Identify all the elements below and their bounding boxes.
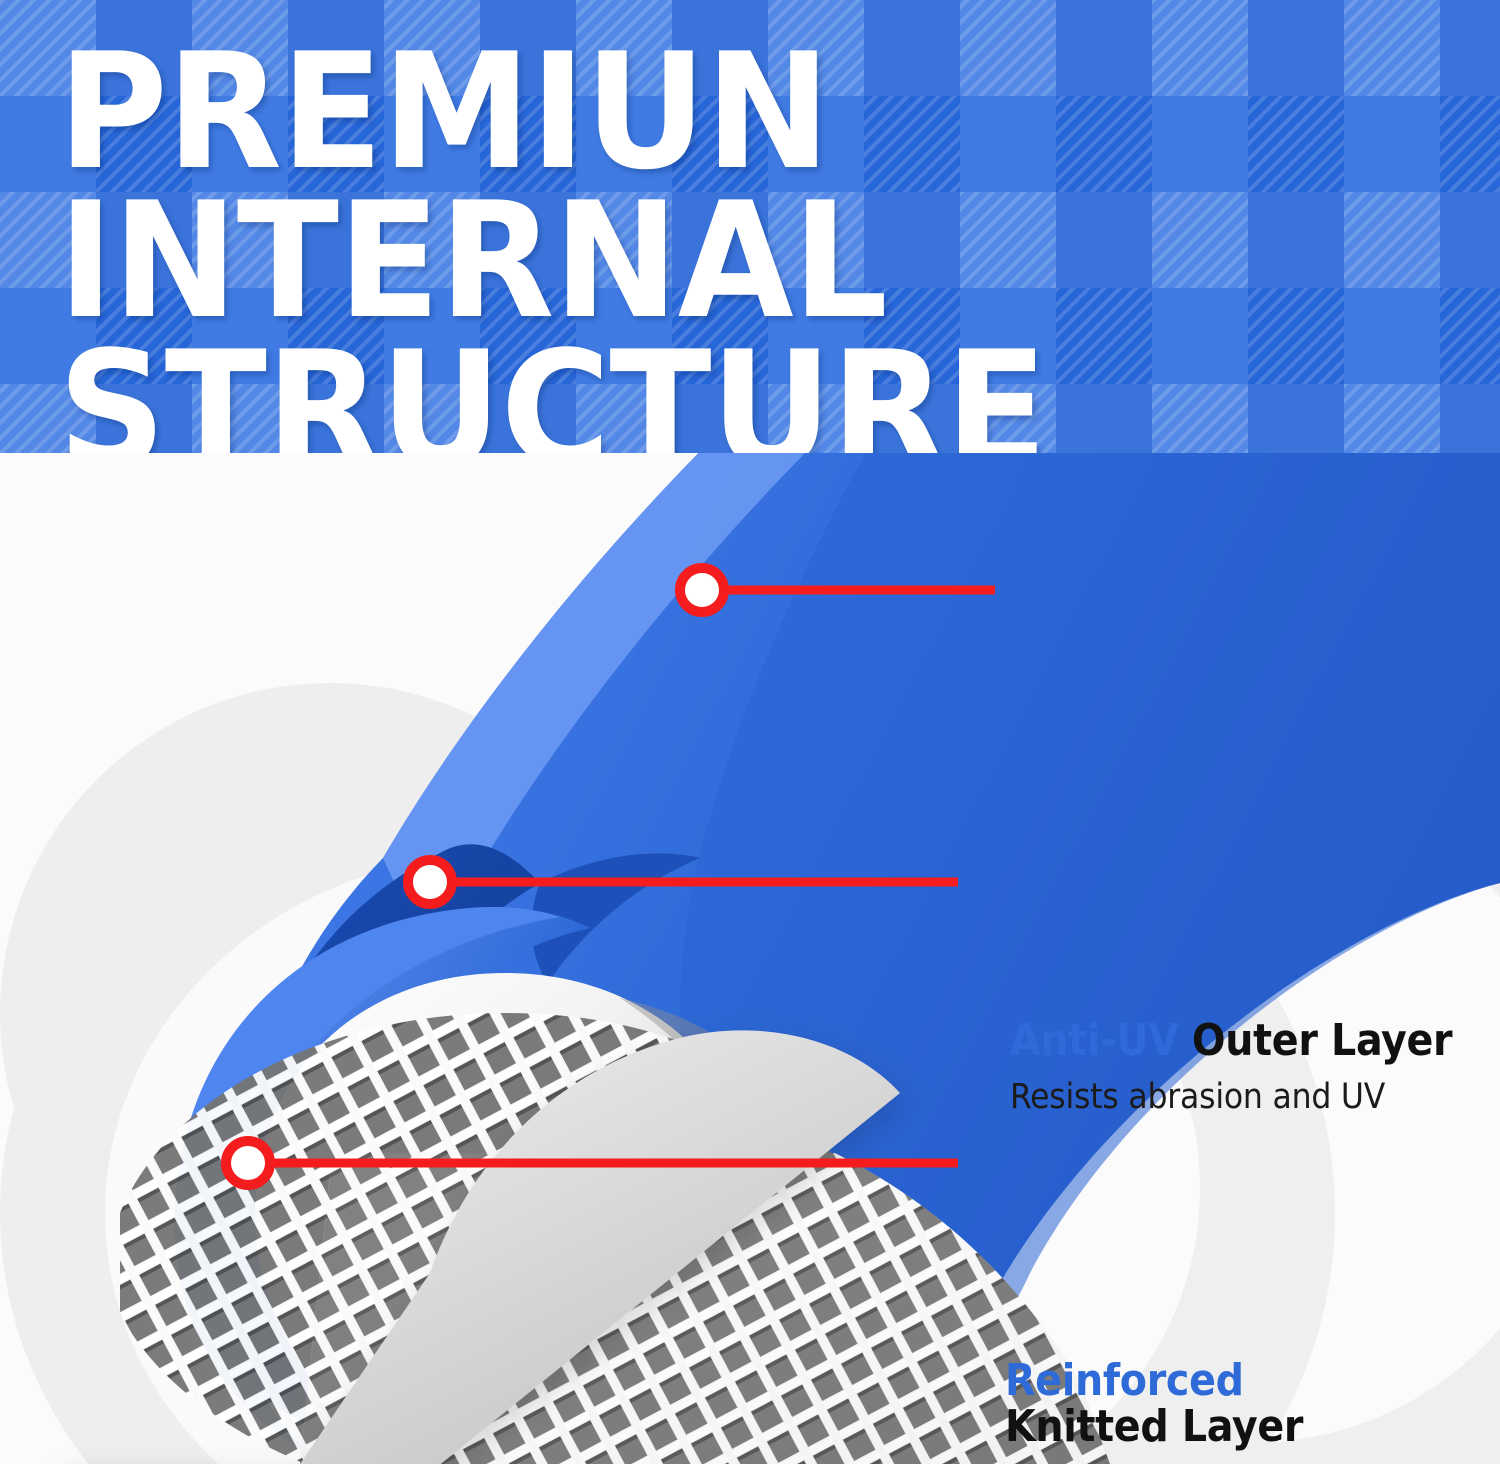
callout-marker-1 — [680, 568, 724, 612]
callout-1-title-highlight: Anti-UV — [1010, 1015, 1192, 1066]
illustration-stage: Anti-UV Outer Layer Resists abrasion and… — [0, 453, 1500, 1464]
callout-anti-uv-outer-layer: Anti-UV Outer Layer Resists abrasion and… — [1010, 1018, 1452, 1118]
callout-1-title-rest: Outer Layer — [1192, 1015, 1452, 1066]
page-title: PREMIUN INTERNAL STRUCTURE — [58, 38, 1500, 453]
callout-reinforced-knitted-layer: ReinforcedKnitted Layer Provides extra s… — [1005, 1311, 1368, 1464]
callout-2-title-highlight: Reinforced — [1005, 1355, 1244, 1406]
callout-marker-2 — [408, 860, 452, 904]
callout-2-title-rest: Knitted Layer — [1005, 1401, 1303, 1452]
callout-2-title: ReinforcedKnitted Layer — [1005, 1311, 1368, 1451]
header-banner: PREMIUN INTERNAL STRUCTURE — [0, 0, 1500, 453]
callout-1-subtitle: Resists abrasion and UV — [1010, 1077, 1452, 1118]
callout-marker-3 — [226, 1141, 270, 1185]
callout-1-title: Anti-UV Outer Layer — [1010, 1018, 1452, 1065]
